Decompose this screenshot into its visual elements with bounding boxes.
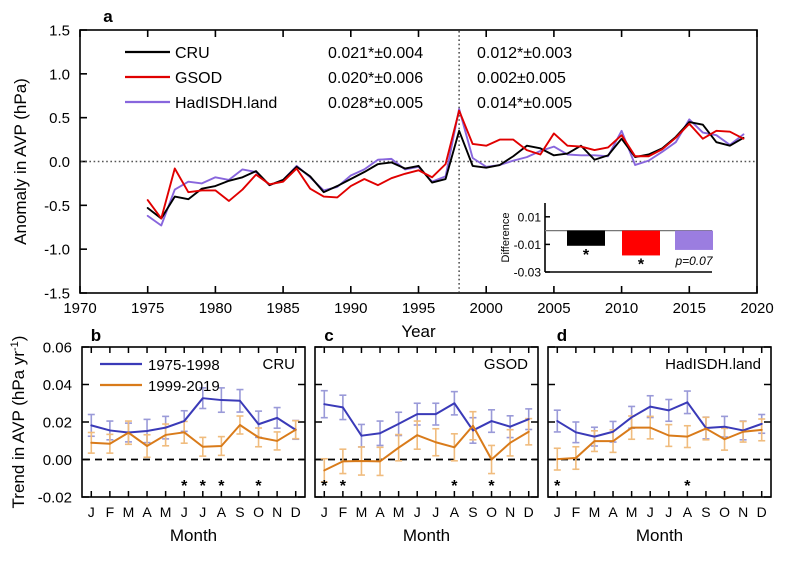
panel-a-trend-period2: 0.002±0.005	[477, 70, 566, 87]
panel-a-xtick-label: 1995	[402, 300, 435, 317]
panel-d-month-label: N	[738, 504, 748, 520]
panel-c-month-label: A	[450, 504, 460, 520]
panel-c-letter: c	[324, 326, 333, 345]
figure-root: -1.5-1.0-0.50.00.51.01.51970197519801985…	[0, 0, 800, 566]
panel-c-month-label: D	[524, 504, 534, 520]
panel-b-significance-marker: *	[181, 478, 188, 495]
panel-a-xtick-label: 2020	[740, 300, 773, 317]
panel-b-ytick-label: 0.06	[43, 340, 72, 357]
panel-c-month-label: J	[321, 504, 328, 520]
panel-a-ytick-label: 0.0	[49, 154, 70, 171]
panel-d: JFMAMJJASOND**HadISDH.landdMonth	[548, 326, 771, 545]
panel-b-legend-label: 1999-2019	[148, 378, 220, 395]
panel-d-xlabel: Month	[636, 526, 683, 545]
panel-a-trend-period1: 0.028*±0.005	[328, 95, 423, 112]
panel-a-ytick-label: -1.0	[44, 242, 70, 259]
panel-d-source-label: HadISDH.land	[665, 356, 761, 373]
panel-a-xlabel: Year	[401, 322, 436, 341]
inset-ylabel: Difference	[500, 213, 512, 263]
panel-b-month-label: M	[123, 504, 135, 520]
panel-b-month-label: A	[142, 504, 152, 520]
panel-a-ytick-label: 0.5	[49, 110, 70, 127]
panel-c-month-label: M	[356, 504, 368, 520]
panel-a-trend-period2: 0.012*±0.003	[477, 45, 572, 62]
panel-c: JFMAMJJASOND****GSODcMonth	[315, 326, 538, 545]
panel-d-month-label: D	[757, 504, 767, 520]
inset-bar-annotation: *	[638, 256, 645, 273]
panel-b-ytick-label: 0.02	[43, 415, 72, 432]
panel-a-trend-period2: 0.014*±0.005	[477, 95, 572, 112]
inset-bar-annotation: p=0.07	[674, 254, 713, 268]
panel-a-xtick-label: 2005	[537, 300, 570, 317]
panel-b-month-label: J	[181, 504, 188, 520]
panel-c-month-label: J	[432, 504, 439, 520]
panel-c-month-label: F	[339, 504, 348, 520]
panel-a-legend-label: GSOD	[175, 70, 222, 87]
panel-c-xlabel: Month	[403, 526, 450, 545]
panel-a-xtick-label: 1985	[266, 300, 299, 317]
panel-c-source-label: GSOD	[484, 356, 528, 373]
panel-a-xtick-label: 2015	[673, 300, 706, 317]
panel-c-month-label: S	[468, 504, 477, 520]
panel-d-month-label: J	[647, 504, 654, 520]
panel-b-significance-marker: *	[255, 478, 262, 495]
svg-text:Trend in AVP (hPa yr-1): Trend in AVP (hPa yr-1)	[9, 336, 28, 509]
panel-c-month-label: O	[486, 504, 497, 520]
panel-b-ytick-label: 0.00	[43, 452, 72, 469]
panel-a-xtick-label: 1990	[334, 300, 367, 317]
panel-d-month-label: F	[572, 504, 581, 520]
panel-a-letter: a	[103, 7, 113, 26]
panel-b-significance-marker: *	[218, 478, 225, 495]
inset-bar	[567, 231, 605, 246]
panel-b-month-label: O	[253, 504, 264, 520]
panel-b: JFMAMJJASOND-0.020.000.020.040.06****CRU…	[38, 326, 305, 545]
panel-b-month-label: D	[291, 504, 301, 520]
panel-a-ytick-label: 1.0	[49, 66, 70, 83]
panel-b-month-label: N	[272, 504, 282, 520]
panel-a-ytick-label: -0.5	[44, 198, 70, 215]
figure-canvas: -1.5-1.0-0.50.00.51.01.51970197519801985…	[0, 0, 800, 566]
inset-ytick-label: 0.01	[518, 210, 542, 224]
panel-a-trend-period1: 0.020*±0.006	[328, 70, 423, 87]
inset-bar	[622, 231, 660, 256]
panel-a-legend-label: CRU	[175, 45, 210, 62]
panel-b-xlabel: Month	[170, 526, 217, 545]
panel-b-month-label: J	[88, 504, 95, 520]
panel-a-trend-period1: 0.021*±0.004	[328, 45, 423, 62]
panel-a-ylabel: Anomaly in AVP (hPa)	[11, 78, 30, 245]
panel-d-month-label: J	[554, 504, 561, 520]
panel-a-xtick-label: 2010	[605, 300, 638, 317]
panel-a-ytick-label: 1.5	[49, 23, 70, 40]
panel-c-month-label: N	[505, 504, 515, 520]
panel-b-legend-label: 1975-1998	[148, 357, 220, 374]
panel-b-month-label: A	[217, 504, 227, 520]
panel-d-significance-marker: *	[684, 478, 691, 495]
panel-d-month-label: A	[608, 504, 618, 520]
panel-b-month-label: M	[160, 504, 172, 520]
inset-bar-annotation: *	[583, 247, 590, 264]
panel-b-significance-marker: *	[200, 478, 207, 495]
panel-a-xtick-label: 1970	[63, 300, 96, 317]
panel-a-xtick-label: 1980	[199, 300, 232, 317]
panel-c-significance-marker: *	[488, 478, 495, 495]
panel-b-ytick-label: -0.02	[38, 490, 72, 507]
panel-b-source-label: CRU	[263, 356, 296, 373]
panel-a-xtick-label: 1975	[131, 300, 164, 317]
panel-b-ytick-label: 0.04	[43, 377, 72, 394]
panel-b-letter: b	[91, 326, 101, 345]
panel-d-month-label: A	[683, 504, 693, 520]
inset-bar	[675, 231, 713, 250]
panel-a: -1.5-1.0-0.50.00.51.01.51970197519801985…	[11, 7, 774, 341]
panel-c-significance-marker: *	[451, 478, 458, 495]
panel-d-month-label: M	[589, 504, 601, 520]
panel-b-month-label: S	[235, 504, 244, 520]
panel-c-month-label: A	[375, 504, 385, 520]
panels-bcd-ylabel: Trend in AVP (hPa yr-1)	[9, 336, 28, 509]
panel-c-significance-marker: *	[321, 478, 328, 495]
inset-ytick-label: -0.01	[514, 238, 542, 252]
panel-d-letter: d	[557, 326, 567, 345]
panel-d-month-label: J	[665, 504, 672, 520]
panel-d-month-label: M	[626, 504, 638, 520]
panel-d-month-label: S	[701, 504, 710, 520]
panel-c-significance-marker: *	[340, 478, 347, 495]
panel-d-significance-marker: *	[554, 478, 561, 495]
panel-d-month-label: O	[719, 504, 730, 520]
panel-a-xtick-label: 2000	[470, 300, 503, 317]
panel-b-month-label: J	[199, 504, 206, 520]
panel-a-legend-label: HadISDH.land	[175, 95, 277, 112]
panel-c-month-label: M	[393, 504, 405, 520]
panel-b-month-label: F	[106, 504, 115, 520]
panel-c-month-label: J	[414, 504, 421, 520]
inset-ytick-label: -0.03	[514, 266, 542, 280]
